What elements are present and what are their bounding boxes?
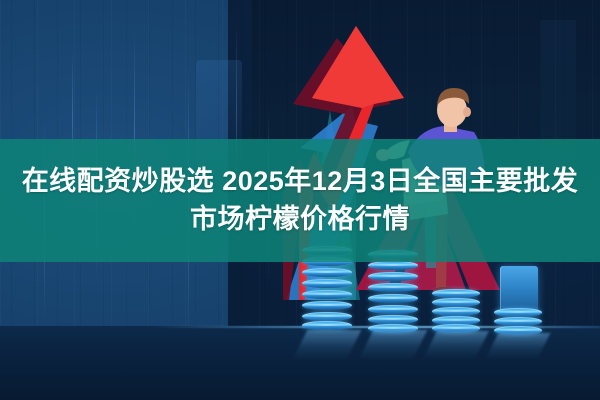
title-overlay-band: 在线配资炒股选 2025年12月3日全国主要批发 市场柠檬价格行情	[0, 139, 600, 262]
coin-stack-4	[494, 308, 542, 336]
person-ear	[463, 107, 471, 117]
coin-stack-2	[368, 250, 418, 330]
title-line-1: 在线配资炒股选 2025年12月3日全国主要批发	[22, 166, 579, 198]
title-line-2: 市场柠檬价格行情	[190, 204, 410, 236]
coin-stack-4-pillar	[500, 266, 538, 312]
banner-image: 在线配资炒股选 2025年12月3日全国主要批发 市场柠檬价格行情	[0, 0, 600, 400]
coin-stack-3	[432, 289, 480, 334]
